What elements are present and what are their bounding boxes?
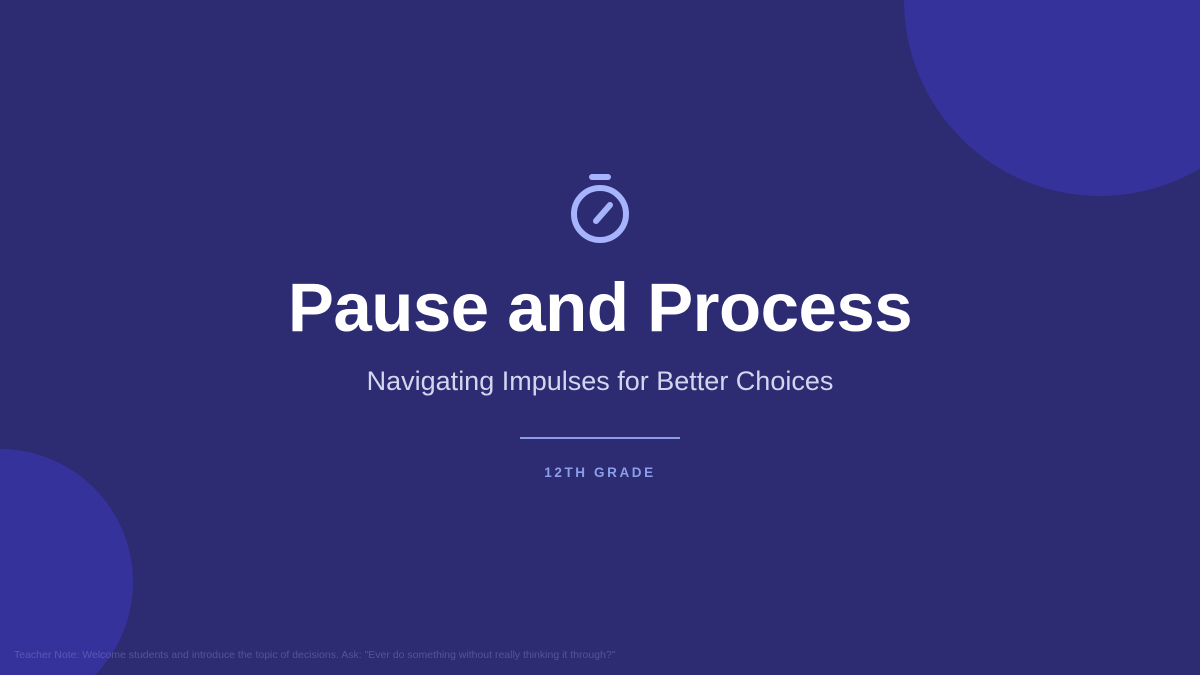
stopwatch-icon: [558, 163, 642, 247]
teacher-note: Teacher Note: Welcome students and intro…: [14, 649, 1186, 663]
divider: [520, 437, 680, 439]
slide-content: Pause and Process Navigating Impulses fo…: [0, 0, 1200, 675]
page-title: Pause and Process: [288, 273, 912, 343]
grade-label: 12TH GRADE: [544, 465, 656, 480]
slide-subtitle: Navigating Impulses for Better Choices: [367, 365, 834, 397]
title-slide: Pause and Process Navigating Impulses fo…: [0, 0, 1200, 675]
